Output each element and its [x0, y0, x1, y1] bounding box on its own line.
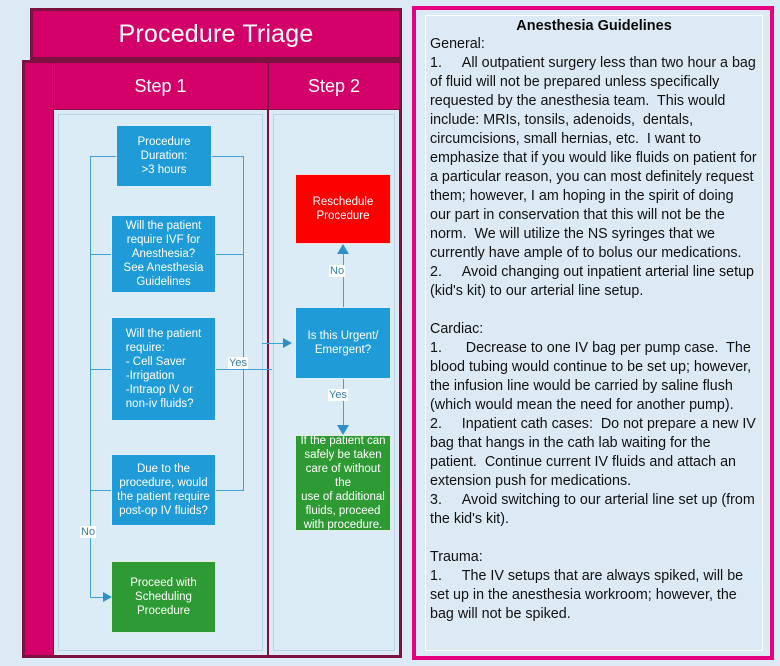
connector-require-left: [90, 369, 111, 370]
step-2-column: Step 2 Reschedule Procedure Is this Urge…: [269, 63, 399, 655]
arrow-yes-into-urgent-icon: [283, 338, 292, 348]
connector-duration-right: [212, 156, 243, 157]
arrow-up-reschedule-icon: [337, 244, 349, 254]
arrow-no-to-green-icon: [103, 592, 112, 602]
flow-box-is-urgent-emergent[interactable]: Is this Urgent/ Emergent?: [295, 307, 391, 379]
step-1-header: Step 1: [54, 63, 267, 110]
guidelines-title: Anesthesia Guidelines: [430, 18, 758, 34]
edge-label-yes-step2: Yes: [228, 357, 248, 369]
connector-ivf-right: [216, 254, 243, 255]
procedure-triage-table: Procedure Triage Step 1 Procedure Durati…: [8, 6, 403, 658]
guidelines-body-text: General: 1. All outpatient surgery less …: [430, 35, 758, 624]
flow-box-ivf-anesthesia[interactable]: Will the patient require IVF for Anesthe…: [111, 215, 216, 293]
flow-box-procedure-duration[interactable]: Procedure Duration: >3 hours: [116, 125, 212, 187]
connector-right-bus: [243, 156, 244, 491]
step-1-body: Procedure Duration: >3 hours Will the pa…: [58, 114, 263, 651]
connector-duration-left: [90, 156, 116, 157]
connector-ivf-left: [90, 254, 111, 255]
connector-postop-left: [90, 490, 111, 491]
connector-urgent-to-reschedule: [343, 254, 344, 307]
connector-require-right: [216, 369, 272, 370]
flow-box-reschedule-procedure[interactable]: Reschedule Procedure: [295, 174, 391, 244]
flow-box-proceed-without-fluids[interactable]: If the patient can safely be taken care …: [295, 435, 391, 531]
flow-box-proceed-scheduling[interactable]: Proceed with Scheduling Procedure: [111, 561, 216, 633]
flow-box-patient-require-list[interactable]: Will the patient require: - Cell Saver -…: [111, 317, 216, 421]
connector-yes-into-urgent: [262, 343, 284, 344]
table-stub-column: [25, 63, 54, 655]
connector-postop-right: [216, 490, 243, 491]
flow-box-postop-iv-fluids[interactable]: Due to the procedure, would the patient …: [111, 454, 216, 526]
step-2-body: Reschedule Procedure Is this Urgent/ Eme…: [273, 114, 395, 651]
edge-label-no-reschedule: No: [329, 265, 345, 277]
edge-label-no-proceed: No: [80, 526, 96, 538]
triage-table-body: Step 1 Procedure Duration: >3 hours Will…: [22, 60, 402, 658]
slide-canvas: Procedure Triage Step 1 Procedure Durati…: [0, 0, 780, 666]
arrow-down-green-icon: [337, 425, 349, 435]
anesthesia-guidelines-panel: Anesthesia Guidelines General: 1. All ou…: [412, 6, 774, 660]
edge-label-yes-green: Yes: [328, 389, 348, 401]
guidelines-inner: Anesthesia Guidelines General: 1. All ou…: [425, 15, 763, 651]
step-2-header: Step 2: [269, 63, 399, 110]
triage-title: Procedure Triage: [30, 8, 402, 60]
connector-urgent-to-green: [343, 379, 344, 425]
